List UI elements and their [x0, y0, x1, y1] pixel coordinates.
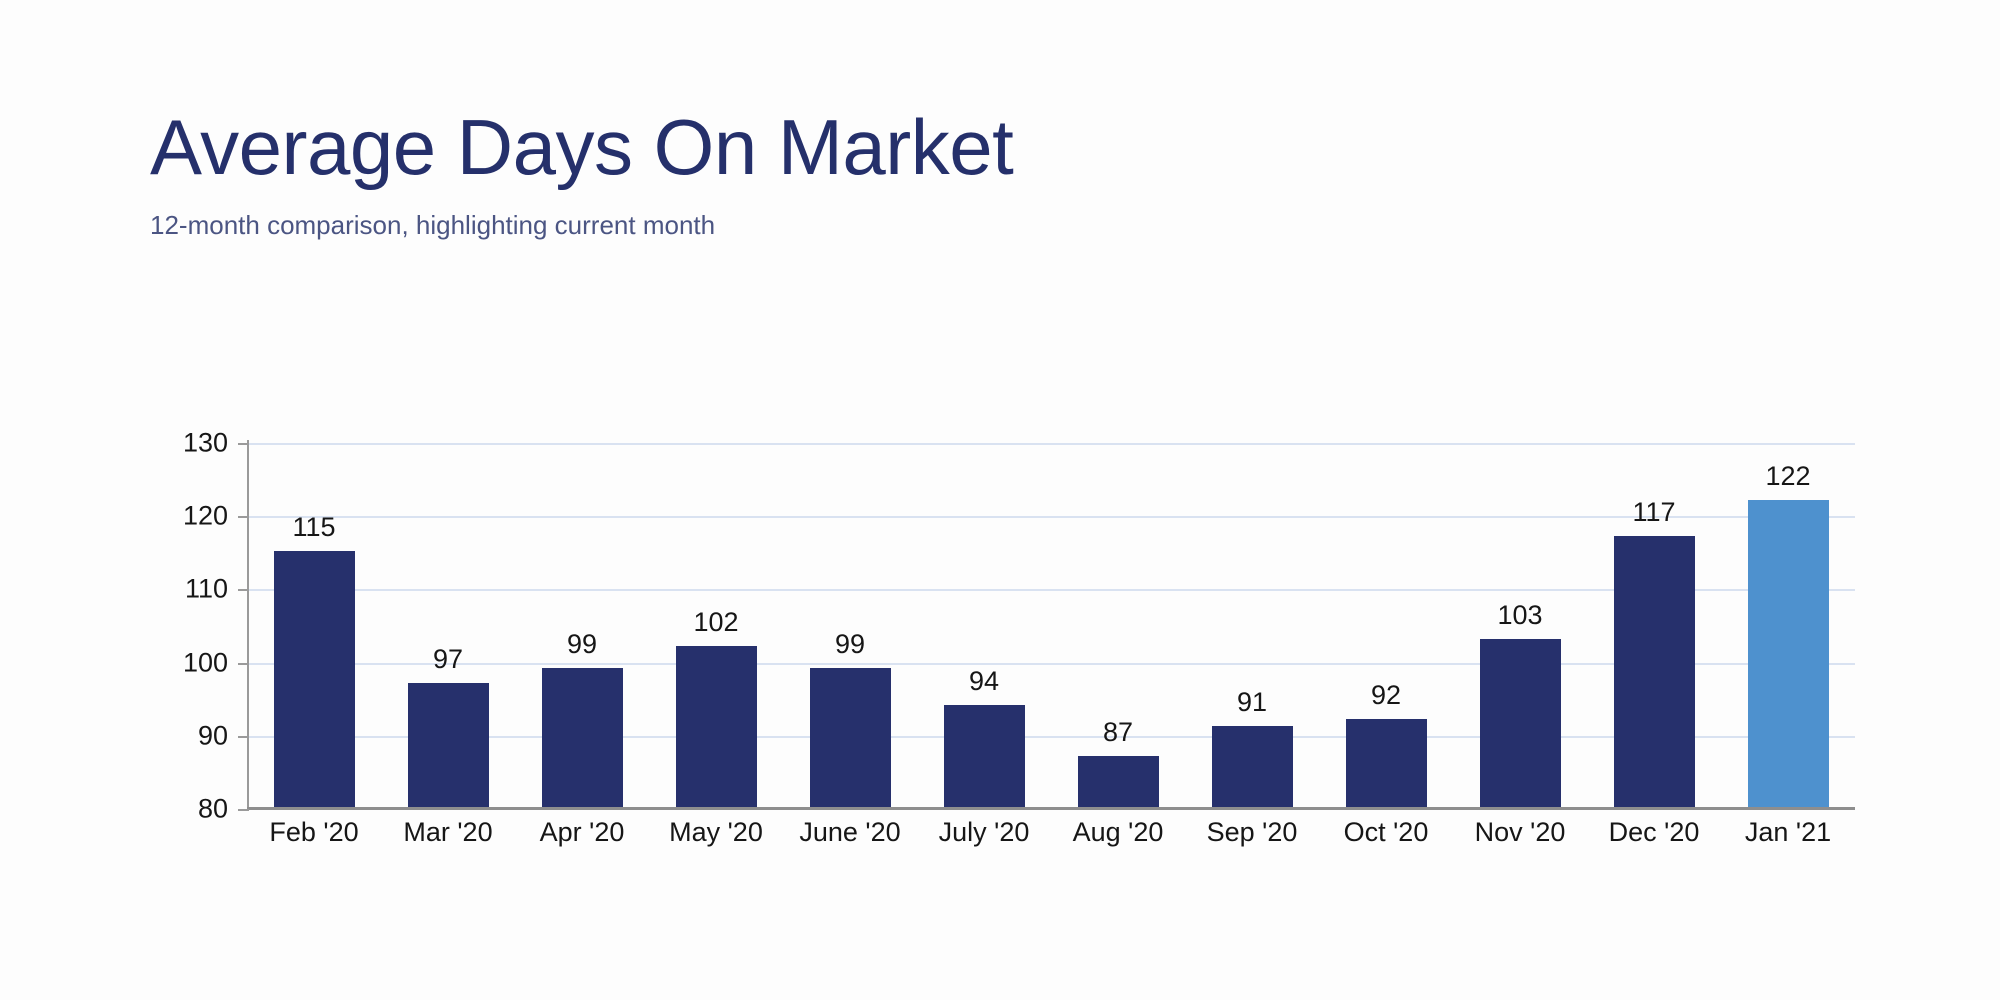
x-axis-label: Jan '21 — [1745, 817, 1831, 848]
bar-group: 87Aug '20 — [1078, 441, 1159, 807]
chart-page: Average Days On Market 12-month comparis… — [0, 0, 2000, 1000]
bar-group: 91Sep '20 — [1212, 441, 1293, 807]
bar[interactable] — [274, 551, 355, 807]
bar[interactable] — [1212, 726, 1293, 807]
bar-value-label: 97 — [433, 644, 463, 675]
bar[interactable] — [1346, 719, 1427, 807]
page-title: Average Days On Market — [150, 108, 1850, 188]
bar-group: 115Feb '20 — [274, 441, 355, 807]
x-axis-label: June '20 — [799, 817, 900, 848]
bar-value-label: 117 — [1632, 497, 1675, 528]
bar-group: 122Jan '21 — [1748, 441, 1829, 807]
x-axis-baseline — [247, 807, 1855, 810]
bar-value-label: 92 — [1371, 680, 1401, 711]
y-axis-label: 90 — [158, 720, 228, 751]
x-axis-label: Apr '20 — [540, 817, 625, 848]
bar-group: 99Apr '20 — [542, 441, 623, 807]
bar[interactable] — [676, 646, 757, 807]
x-axis-label: Nov '20 — [1475, 817, 1566, 848]
bar-group: 117Dec '20 — [1614, 441, 1695, 807]
bar-group: 94July '20 — [944, 441, 1025, 807]
bar-group: 99June '20 — [810, 441, 891, 807]
bar-value-label: 99 — [567, 629, 597, 660]
bar-group: 102May '20 — [676, 441, 757, 807]
bar-group: 103Nov '20 — [1480, 441, 1561, 807]
bar-highlighted[interactable] — [1748, 500, 1829, 807]
bar[interactable] — [1614, 536, 1695, 807]
bar[interactable] — [1078, 756, 1159, 807]
bar-value-label: 91 — [1237, 687, 1267, 718]
y-axis-label: 110 — [158, 574, 228, 605]
bar-value-label: 102 — [693, 607, 738, 638]
y-axis-tick — [238, 809, 249, 811]
bar-value-label: 87 — [1103, 717, 1133, 748]
y-axis-label: 120 — [158, 501, 228, 532]
bar-chart-plot: 8090100110120130 115Feb '2097Mar '2099Ap… — [160, 440, 1855, 810]
page-subtitle: 12-month comparison, highlighting curren… — [150, 188, 1850, 241]
y-axis-label: 80 — [158, 794, 228, 825]
bar[interactable] — [810, 668, 891, 807]
x-axis-label: Aug '20 — [1073, 817, 1164, 848]
x-axis-label: Feb '20 — [269, 817, 358, 848]
x-axis-label: Dec '20 — [1609, 817, 1700, 848]
x-axis-label: Mar '20 — [403, 817, 492, 848]
bar-group: 92Oct '20 — [1346, 441, 1427, 807]
bar-value-label: 99 — [835, 629, 865, 660]
bar[interactable] — [542, 668, 623, 807]
bar[interactable] — [944, 705, 1025, 807]
bar-value-label: 103 — [1497, 600, 1542, 631]
x-axis-label: Oct '20 — [1344, 817, 1429, 848]
y-axis-label: 100 — [158, 647, 228, 678]
bar[interactable] — [1480, 639, 1561, 807]
bar[interactable] — [408, 683, 489, 807]
x-axis-label: May '20 — [669, 817, 763, 848]
bar-group: 97Mar '20 — [408, 441, 489, 807]
y-axis-label: 130 — [158, 428, 228, 459]
bar-value-label: 115 — [292, 512, 335, 543]
bar-value-label: 122 — [1765, 461, 1810, 492]
bar-value-label: 94 — [969, 666, 999, 697]
x-axis-label: Sep '20 — [1207, 817, 1298, 848]
chart-header: Average Days On Market 12-month comparis… — [150, 108, 1850, 241]
bars-group: 115Feb '2097Mar '2099Apr '20102May '2099… — [247, 441, 1855, 807]
x-axis-label: July '20 — [939, 817, 1030, 848]
